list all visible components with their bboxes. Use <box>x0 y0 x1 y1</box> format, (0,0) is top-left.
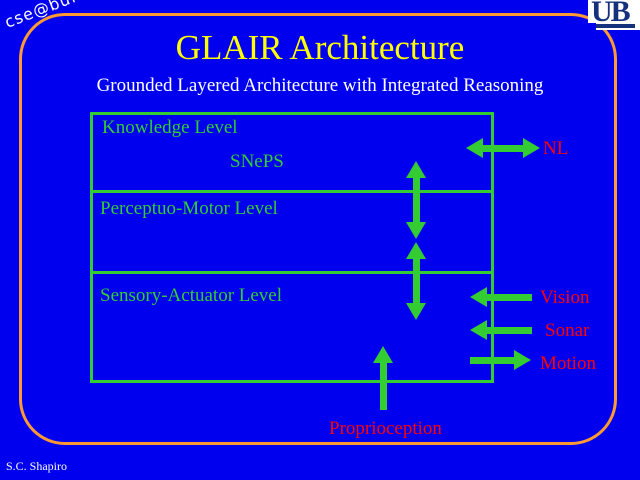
page-subtitle: Grounded Layered Architecture with Integ… <box>0 74 640 98</box>
arrow-shaft <box>470 357 515 364</box>
arrow-shaft <box>487 294 532 301</box>
architecture-box <box>90 112 494 383</box>
arrow-head-up <box>373 346 393 363</box>
arrow-head-down <box>406 222 426 239</box>
slide-canvas: cse@buffalo UB GLAIR Architecture Ground… <box>0 0 640 480</box>
arrow-shaft <box>413 177 420 223</box>
arrow-shaft <box>380 362 387 410</box>
layer-sublabel-sneps: SNePS <box>230 151 284 173</box>
cse-buffalo-watermark: cse@buffalo <box>2 0 111 32</box>
arrow-shaft <box>413 258 420 304</box>
author-credit: S.C. Shapiro <box>6 459 67 474</box>
io-label-vision: Vision <box>540 287 590 309</box>
arrow-head-up <box>406 242 426 259</box>
arrow-head-right <box>514 350 531 370</box>
layer-label-knowledge: Knowledge Level <box>102 117 238 139</box>
arrow-head-up <box>406 161 426 178</box>
io-label-proprioception: Proprioception <box>329 418 442 440</box>
arrow-head-left <box>470 287 487 307</box>
arrow-head-right <box>523 138 540 158</box>
layer-label-sensory-actuator: Sensory-Actuator Level <box>100 285 282 307</box>
layer-divider-perceptuo-sensory <box>90 271 494 274</box>
arrow-shaft <box>482 145 524 152</box>
arrow-shaft <box>487 327 532 334</box>
layer-divider-knowledge-perceptuo <box>90 190 494 193</box>
io-label-nl: NL <box>543 138 568 160</box>
io-label-sonar: Sonar <box>545 320 589 342</box>
ub-logo: UB <box>588 0 640 30</box>
arrow-head-left <box>470 320 487 340</box>
arrow-head-left <box>466 138 483 158</box>
arrow-head-down <box>406 303 426 320</box>
io-label-motion: Motion <box>540 353 596 375</box>
page-title: GLAIR Architecture <box>0 28 640 68</box>
layer-label-perceptuo-motor: Perceptuo-Motor Level <box>100 198 278 220</box>
